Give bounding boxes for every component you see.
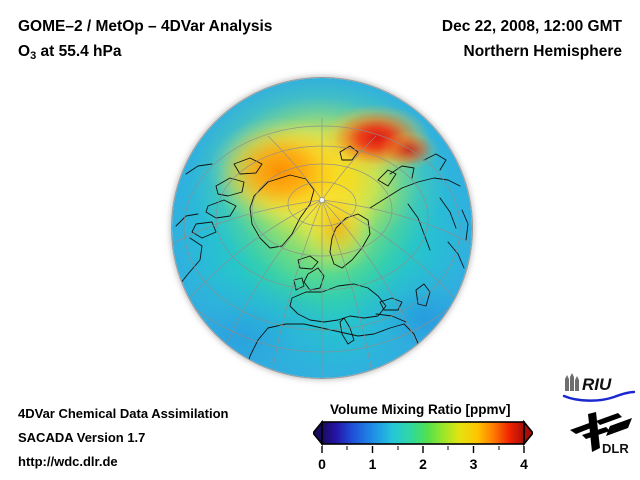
riu-logo: RIU xyxy=(562,372,636,402)
colorbar-tick-2: 2 xyxy=(419,456,427,472)
riu-tower-icon xyxy=(565,373,579,391)
header-left: GOME–2 / MetOp – 4DVar Analysis O3 at 55… xyxy=(18,14,272,69)
riu-wordmark: RIU xyxy=(582,375,612,394)
colorbar-extend-max xyxy=(524,422,533,444)
colorbar-extend-min xyxy=(313,422,322,444)
footer-url: http://wdc.dlr.de xyxy=(18,450,229,474)
species-symbol: O xyxy=(18,43,30,60)
globe-map xyxy=(172,78,472,378)
colorbar-tick-4: 4 xyxy=(520,456,528,472)
header-right: Dec 22, 2008, 12:00 GMT Northern Hemisph… xyxy=(442,14,622,64)
colorbar-tick-1: 1 xyxy=(369,456,377,472)
figure-canvas: GOME–2 / MetOp – 4DVar Analysis O3 at 55… xyxy=(0,0,640,480)
dlr-wordmark: DLR xyxy=(602,441,629,456)
colorbar-tick-0: 0 xyxy=(318,456,326,472)
footer-line-2: SACADA Version 1.7 xyxy=(18,426,229,450)
colorbar-tick-marks xyxy=(313,446,533,456)
colorbar-title: Volume Mixing Ratio [ppmv] xyxy=(330,402,511,417)
colorbar-axis: 0 1 2 3 4 xyxy=(313,446,533,474)
region-label: Northern Hemisphere xyxy=(442,39,622,64)
footer-block: 4DVar Chemical Data Assimilation SACADA … xyxy=(18,402,229,474)
timestamp-label: Dec 22, 2008, 12:00 GMT xyxy=(442,14,622,39)
footer-line-1: 4DVar Chemical Data Assimilation xyxy=(18,402,229,426)
pressure-level: at 55.4 hPa xyxy=(36,43,121,60)
page-title: GOME–2 / MetOp – 4DVar Analysis xyxy=(18,14,272,39)
colorbar-gradient xyxy=(322,422,524,444)
globe-limb-shading xyxy=(172,78,472,378)
globe-disc xyxy=(172,78,472,378)
colorbar-tick-3: 3 xyxy=(470,456,478,472)
dlr-logo: DLR xyxy=(566,408,636,456)
colorbar xyxy=(313,420,533,446)
species-level-label: O3 at 55.4 hPa xyxy=(18,39,272,69)
